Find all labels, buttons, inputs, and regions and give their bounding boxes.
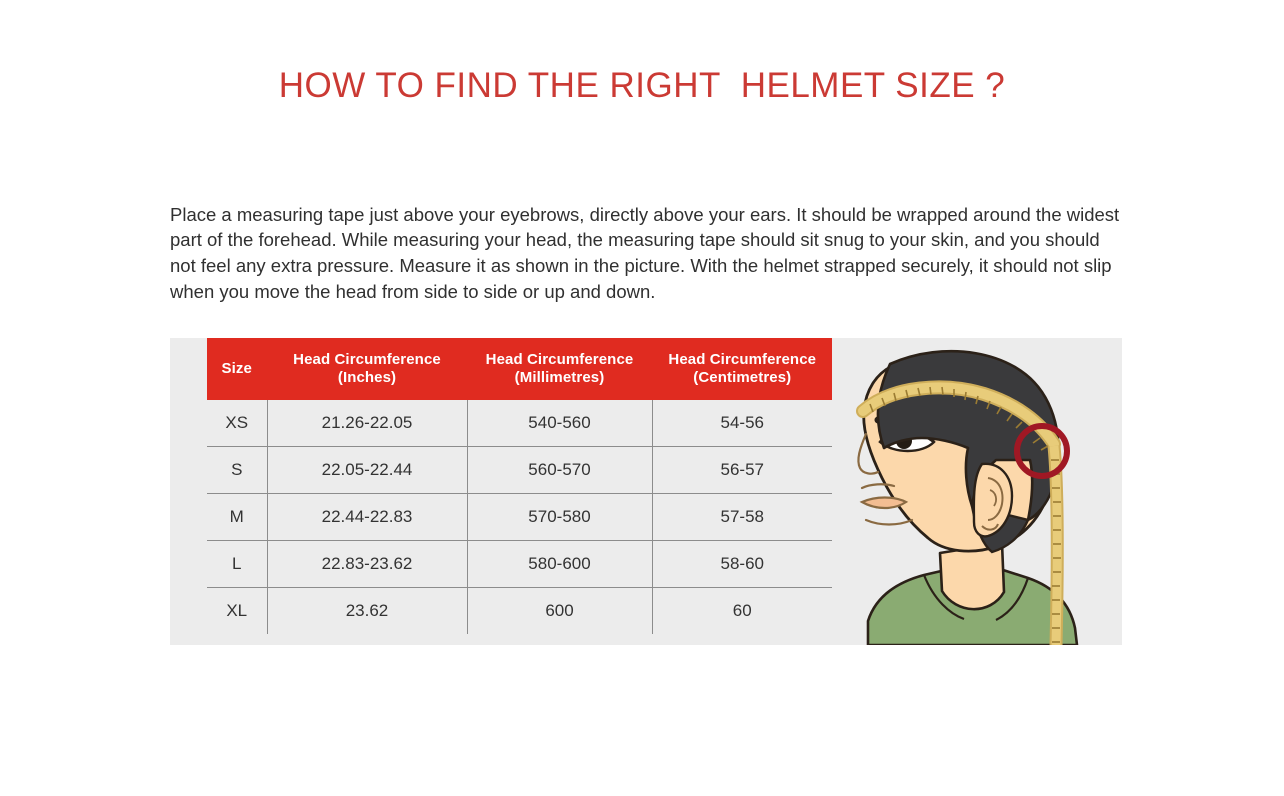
cell-inches: 22.05-22.44 <box>267 447 467 494</box>
header-line-1: Head Circumference <box>668 351 816 368</box>
size-chart-panel: Size Head Circumference (Inches) Head Ci… <box>170 338 1122 645</box>
cell-mm: 540-560 <box>467 400 652 447</box>
cell-size: M <box>207 494 267 541</box>
instructions-paragraph: Place a measuring tape just above your e… <box>170 202 1122 305</box>
column-header-centimetres: Head Circumference (Centimetres) <box>652 338 832 400</box>
cell-inches: 23.62 <box>267 588 467 635</box>
column-header-millimetres: Head Circumference (Millimetres) <box>467 338 652 400</box>
page-title: HOW TO FIND THE RIGHT HELMET SIZE ? <box>0 66 1284 106</box>
cell-mm: 560-570 <box>467 447 652 494</box>
cell-inches: 22.83-23.62 <box>267 541 467 588</box>
header-line-1: Head Circumference <box>486 351 634 368</box>
table-row: XL 23.62 600 60 <box>207 588 832 635</box>
table-row: M 22.44-22.83 570-580 57-58 <box>207 494 832 541</box>
cell-cm: 60 <box>652 588 832 635</box>
cell-inches: 22.44-22.83 <box>267 494 467 541</box>
head-profile-figure <box>832 338 1122 645</box>
cell-size: S <box>207 447 267 494</box>
column-header-size: Size <box>207 338 267 400</box>
helmet-size-table: Size Head Circumference (Inches) Head Ci… <box>207 338 832 634</box>
column-header-inches: Head Circumference (Inches) <box>267 338 467 400</box>
header-line-1: Head Circumference <box>293 351 441 368</box>
header-line-2: (Millimetres) <box>468 369 652 387</box>
table-row: L 22.83-23.62 580-600 58-60 <box>207 541 832 588</box>
cell-cm: 58-60 <box>652 541 832 588</box>
header-line-2: (Centimetres) <box>653 369 833 387</box>
head-measurement-illustration <box>832 338 1122 645</box>
table-row: S 22.05-22.44 560-570 56-57 <box>207 447 832 494</box>
header-line-2: (Inches) <box>268 369 467 387</box>
cell-mm: 570-580 <box>467 494 652 541</box>
cell-size: L <box>207 541 267 588</box>
cell-mm: 580-600 <box>467 541 652 588</box>
cell-cm: 56-57 <box>652 447 832 494</box>
neck-shape <box>940 543 1004 609</box>
cell-cm: 57-58 <box>652 494 832 541</box>
table-header-row: Size Head Circumference (Inches) Head Ci… <box>207 338 832 400</box>
cell-mm: 600 <box>467 588 652 635</box>
cell-inches: 21.26-22.05 <box>267 400 467 447</box>
cell-cm: 54-56 <box>652 400 832 447</box>
header-line-1: Size <box>222 360 252 377</box>
cell-size: XL <box>207 588 267 635</box>
table-row: XS 21.26-22.05 540-560 54-56 <box>207 400 832 447</box>
cell-size: XS <box>207 400 267 447</box>
